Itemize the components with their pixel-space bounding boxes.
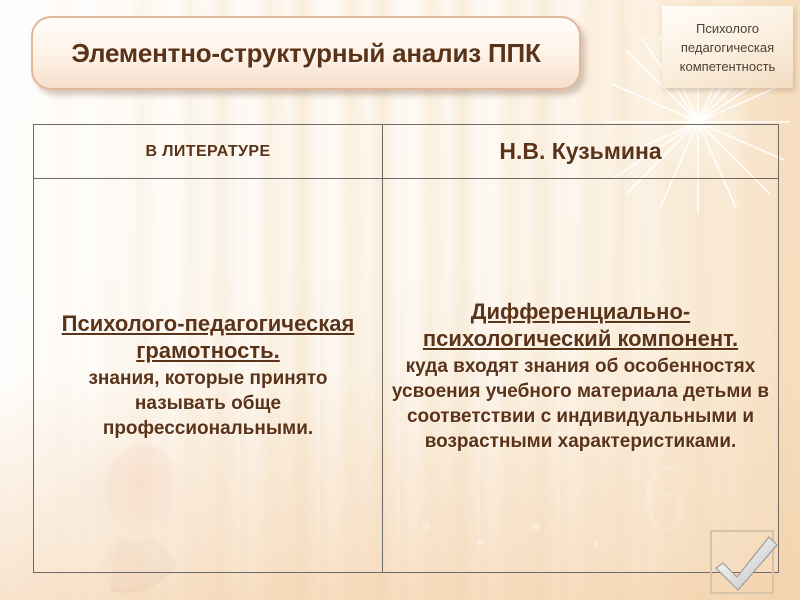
table-header-label-kuzmina: Н.В. Кузьмина bbox=[499, 138, 661, 164]
slide-canvas: 8 7 6 4 3 bbox=[0, 0, 800, 600]
literature-cell-inner: Психолого-педагогическая грамотность. зн… bbox=[42, 310, 374, 441]
topic-badge-line-3: компетентность bbox=[680, 57, 776, 76]
comparison-table-wrapper: В ЛИТЕРАТУРЕ Н.В. Кузьмина Психолого-пед… bbox=[33, 124, 778, 573]
checkmark-icon bbox=[707, 527, 783, 600]
table-header-row: В ЛИТЕРАТУРЕ Н.В. Кузьмина bbox=[34, 125, 779, 179]
kuzmina-cell-inner: Дифференциально-психологический компонен… bbox=[391, 298, 770, 454]
kuzmina-term: Дифференциально-психологический компонен… bbox=[391, 298, 770, 352]
table-header-cell-kuzmina: Н.В. Кузьмина bbox=[383, 125, 779, 179]
kuzmina-description: куда входят знания об особенностях усвое… bbox=[391, 354, 770, 454]
literature-term: Психолого-педагогическая грамотность. bbox=[42, 310, 374, 364]
table-header-cell-literature: В ЛИТЕРАТУРЕ bbox=[34, 125, 383, 179]
topic-badge-line-1: Психолого bbox=[696, 19, 759, 38]
topic-badge: Психолого педагогическая компетентность bbox=[662, 6, 793, 88]
table-cell-kuzmina-content: Дифференциально-психологический компонен… bbox=[383, 179, 779, 573]
page-title: Элементно-структурный анализ ППК bbox=[71, 38, 540, 69]
comparison-table: В ЛИТЕРАТУРЕ Н.В. Кузьмина Психолого-пед… bbox=[33, 124, 779, 573]
table-header-label-literature: В ЛИТЕРАТУРЕ bbox=[145, 143, 270, 160]
literature-description: знания, которые принято называть обще пр… bbox=[42, 366, 374, 441]
topic-badge-line-2: педагогическая bbox=[681, 38, 774, 57]
table-row: Психолого-педагогическая грамотность. зн… bbox=[34, 179, 779, 573]
slide-title-box: Элементно-структурный анализ ППК bbox=[31, 16, 581, 90]
table-cell-literature-content: Психолого-педагогическая грамотность. зн… bbox=[34, 179, 383, 573]
